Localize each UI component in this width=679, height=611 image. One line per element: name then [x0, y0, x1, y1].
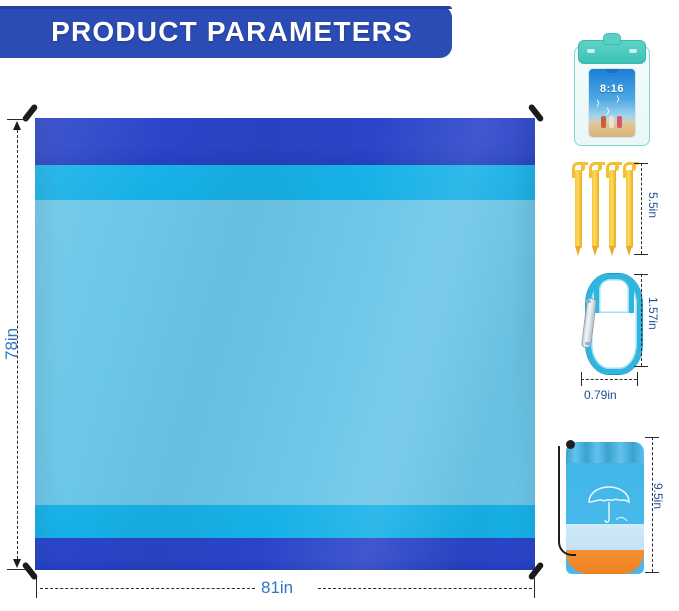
- bag-bottom-band: [566, 550, 644, 574]
- stake-point: [609, 246, 615, 256]
- waterproof-phone-pouch: 8:16 ❭ ❭ ❭: [574, 32, 648, 144]
- bottom-dark-stripe: [35, 538, 535, 570]
- page-title: PRODUCT PARAMETERS: [0, 6, 452, 58]
- carabiner-width-dim-line: [581, 379, 637, 380]
- carry-bag: [556, 428, 652, 574]
- stake-hook-tip: [598, 162, 602, 171]
- blanket-height-label: 78in: [2, 328, 22, 360]
- carabiner-gate-pin-top: [585, 300, 591, 303]
- ground-stakes: [572, 160, 644, 255]
- stake-hook-tip: [615, 162, 619, 171]
- blanket-width-label: 81in: [261, 578, 293, 598]
- carabiner-gate-pin-bottom: [585, 342, 591, 345]
- pouch-clip-hole-right: [629, 49, 637, 53]
- pouch-clip-knob: [603, 33, 621, 45]
- seagull-icon-1: ❭: [595, 99, 601, 107]
- beach-person-3: [617, 116, 622, 128]
- bag-drawstring-cord: [558, 446, 576, 556]
- stake-point: [575, 246, 581, 256]
- title-banner: PRODUCT PARAMETERS: [0, 6, 452, 58]
- width-dim-left-cap: [36, 578, 37, 598]
- carabiner-height-label: 1.57in: [646, 297, 660, 330]
- stake-shaft: [626, 170, 633, 248]
- bag-dim-bottom-cap: [645, 572, 659, 573]
- carabiner: [578, 272, 640, 366]
- height-dim-bottom-cap: [7, 569, 27, 570]
- stake-hook-tip: [581, 162, 585, 171]
- carabiner-h-dim-bottom-cap: [634, 366, 648, 367]
- bag-height-label: 9.5in: [651, 483, 665, 509]
- bag-drawstring-gather: [566, 442, 644, 463]
- stake-dim-line: [641, 163, 642, 254]
- stake-point: [592, 246, 598, 256]
- height-dim-top-cap: [7, 119, 27, 120]
- seagull-icon-2: ❭: [615, 95, 621, 103]
- top-dark-stripe: [35, 118, 535, 165]
- stake-3: [606, 160, 619, 255]
- width-dim-right-cap: [534, 578, 535, 598]
- stake-shaft: [592, 170, 599, 248]
- stake-shaft: [609, 170, 616, 248]
- stake-length-label: 5.5in: [646, 192, 660, 218]
- stake-dim-bottom-cap: [634, 254, 648, 255]
- top-cyan-stripe: [35, 165, 535, 200]
- beach-person-1: [601, 116, 606, 128]
- width-dim-line-right: [318, 588, 532, 589]
- phone-screen: 8:16 ❭ ❭ ❭: [588, 68, 636, 138]
- bottom-cyan-stripe: [35, 505, 535, 538]
- carabiner-width-label: 0.79in: [584, 388, 617, 402]
- bag-cord-stopper: [566, 440, 575, 449]
- carabiner-nose: [594, 274, 634, 313]
- phone-clock-label: 8:16: [589, 83, 635, 95]
- bag-middle-band: [566, 524, 644, 550]
- umbrella-icon: [586, 486, 632, 526]
- stake-4: [623, 160, 636, 255]
- stake-shaft: [575, 170, 582, 248]
- phone-notch: [606, 69, 618, 73]
- stake-1: [572, 160, 585, 255]
- pouch-clip-hole-left: [587, 49, 595, 53]
- carabiner-height-dim-line: [641, 274, 642, 366]
- carabiner-w-dim-right-cap: [637, 372, 638, 386]
- beach-person-2: [609, 116, 614, 128]
- product-parameters-infographic: PRODUCT PARAMETERS 78in 81in 8:16: [0, 0, 679, 611]
- bag-body: [566, 442, 644, 574]
- height-dim-arrow-bottom: [13, 559, 21, 568]
- width-dim-line-left: [40, 588, 255, 589]
- seagull-icon-3: ❭: [605, 107, 611, 115]
- stake-2: [589, 160, 602, 255]
- beach-blanket: [35, 118, 535, 570]
- stake-point: [626, 246, 632, 256]
- blanket-main-body: [35, 200, 535, 505]
- height-dim-arrow-top: [13, 121, 21, 130]
